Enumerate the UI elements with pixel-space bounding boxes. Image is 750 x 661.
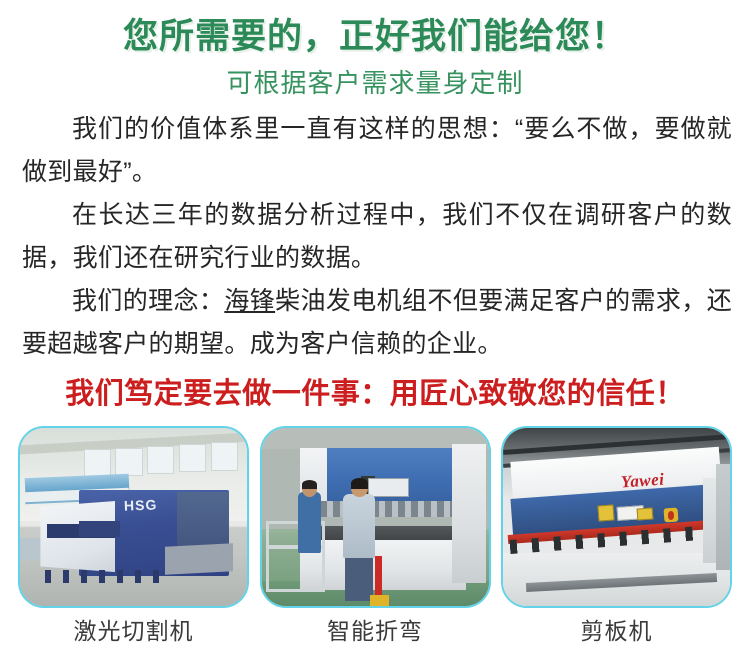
body-copy: 我们的价值体系里一直有这样的思想：“要么不做，要做就做到最好”。 在长达三年的数… (22, 108, 732, 366)
equipment-card-laser-cutter[interactable]: HSG (18, 426, 249, 608)
equipment-photo-row: HSG (18, 426, 732, 608)
promo-page: 您所需要的，正好我们能给您！ 可根据客户需求量身定制 我们的价值体系里一直有这样… (0, 0, 750, 661)
equipment-caption-row: 激光切割机 智能折弯 剪板机 (18, 612, 732, 646)
photo-press-brake (262, 428, 489, 606)
philosophy-prefix: 我们的理念： (72, 287, 224, 315)
equipment-card-press-brake[interactable] (260, 426, 491, 608)
equipment-card-shearing-machine[interactable]: Yawei (501, 426, 732, 608)
page-headline: 您所需要的，正好我们能给您！ (0, 8, 750, 59)
caption-laser-cutter: 激光切割机 (18, 612, 249, 646)
red-emphasis-line: 我们笃定要去做一件事：用匠心致敬您的信任！ (0, 370, 750, 412)
caption-shearing-machine: 剪板机 (501, 612, 732, 646)
brand-name: 海锋 (224, 287, 275, 315)
caption-press-brake: 智能折弯 (260, 612, 491, 646)
paragraph-values: 我们的价值体系里一直有这样的思想：“要么不做，要做就做到最好”。 (22, 108, 732, 194)
machine-brand-label: HSG (124, 497, 158, 514)
page-subheadline: 可根据客户需求量身定制 (0, 63, 750, 100)
paragraph-data-analysis: 在长达三年的数据分析过程中，我们不仅在调研客户的数据，我们还在研究行业的数据。 (22, 194, 732, 280)
photo-shearing-machine: Yawei (503, 428, 730, 606)
machine-brand-label: Yawei (620, 469, 665, 492)
paragraph-philosophy: 我们的理念：海锋柴油发电机组不但要满足客户的需求，还要超越客户的期望。成为客户信… (22, 280, 732, 366)
photo-laser-cutter: HSG (20, 428, 247, 606)
